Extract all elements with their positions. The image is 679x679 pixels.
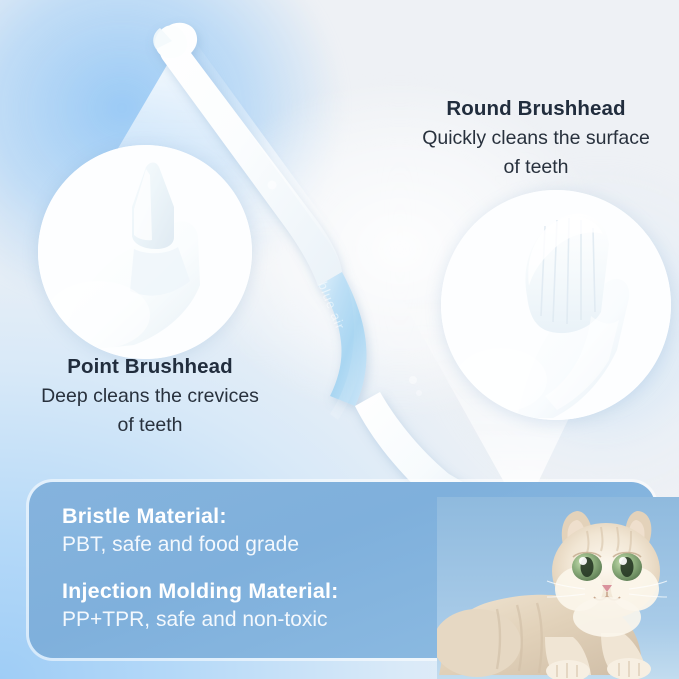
material-row-injection: Injection Molding Material: PP+TPR, safe… — [62, 577, 482, 634]
callout-round-desc-line2: of teeth — [393, 154, 679, 180]
callout-round-brushhead: Round Brushhead Quickly cleans the surfa… — [393, 96, 679, 180]
magnifier-round-brushhead — [441, 190, 671, 420]
bristle-material-label: Bristle Material: — [62, 502, 482, 530]
callout-point-desc-line1: Deep cleans the crevices — [0, 383, 300, 409]
infographic-canvas: blue air — [0, 0, 679, 679]
callout-point-brushhead: Point Brushhead Deep cleans the crevices… — [0, 354, 300, 438]
bristle-material-value: PBT, safe and food grade — [62, 530, 482, 559]
callout-round-desc-line1: Quickly cleans the surface — [393, 125, 679, 151]
materials-list: Bristle Material: PBT, safe and food gra… — [62, 502, 482, 634]
cat-photo — [437, 497, 679, 679]
injection-material-label: Injection Molding Material: — [62, 577, 482, 605]
callout-point-desc-line2: of teeth — [0, 412, 300, 438]
callout-round-title: Round Brushhead — [393, 96, 679, 122]
material-row-bristle: Bristle Material: PBT, safe and food gra… — [62, 502, 482, 559]
magnifier-point-brushhead — [38, 145, 252, 359]
injection-material-value: PP+TPR, safe and non-toxic — [62, 605, 482, 634]
callout-point-title: Point Brushhead — [0, 354, 300, 380]
